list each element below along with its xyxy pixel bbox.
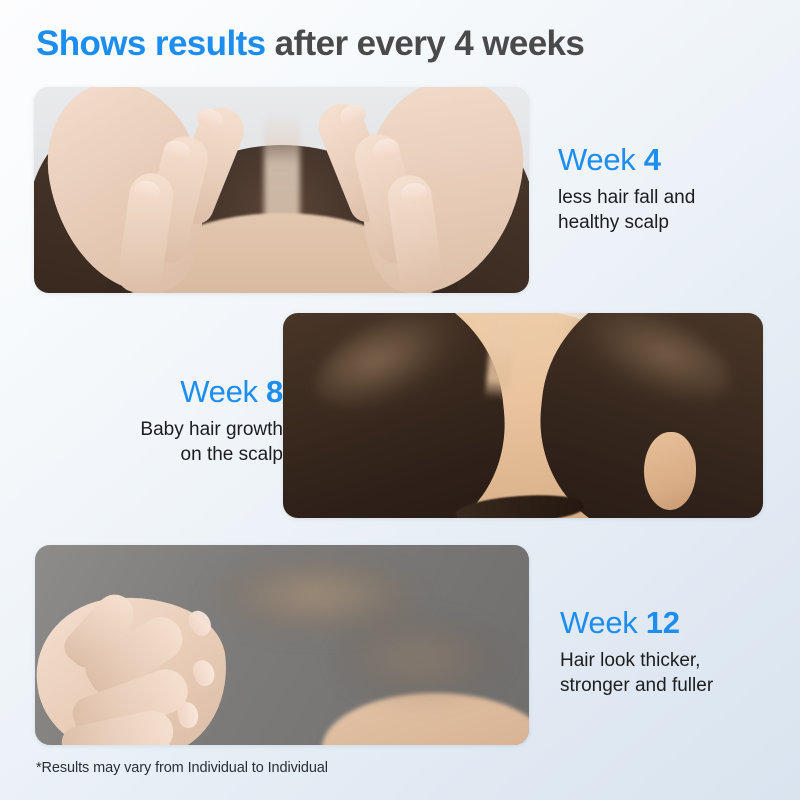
week-heading-8: Week 8 [140, 374, 283, 410]
headline-accent: Shows results [36, 24, 266, 63]
week-word: Week [180, 374, 266, 409]
week-description-8: Baby hair growth on the scalp [140, 417, 283, 468]
week-heading-12: Week 12 [560, 605, 713, 641]
result-image-week-8 [283, 313, 763, 518]
week-number: 12 [646, 605, 680, 640]
caption-week-12: Week 12 Hair look thicker, stronger and … [560, 605, 713, 698]
week-heading-4: Week 4 [558, 142, 695, 178]
photo-week-4 [34, 87, 529, 293]
headline-rest: after every 4 weeks [266, 24, 585, 63]
photo-week-12 [35, 545, 529, 745]
promo-page: Shows results after every 4 weeks [0, 0, 800, 800]
photo-week-8 [283, 313, 763, 518]
week-number: 8 [266, 374, 283, 409]
week-description-4: less hair fall and healthy scalp [558, 185, 695, 236]
hair-sheen [331, 613, 509, 705]
result-image-week-4 [34, 87, 529, 293]
week-word: Week [558, 142, 644, 177]
week-number: 4 [644, 142, 661, 177]
caption-week-8: Week 8 Baby hair growth on the scalp [140, 374, 283, 467]
ear [644, 432, 696, 510]
week-description-12: Hair look thicker, stronger and fuller [560, 648, 713, 699]
disclaimer-text: *Results may vary from Individual to Ind… [36, 760, 328, 776]
week-word: Week [560, 605, 646, 640]
caption-week-4: Week 4 less hair fall and healthy scalp [558, 142, 695, 235]
page-title: Shows results after every 4 weeks [36, 25, 584, 64]
result-image-week-12 [35, 545, 529, 745]
